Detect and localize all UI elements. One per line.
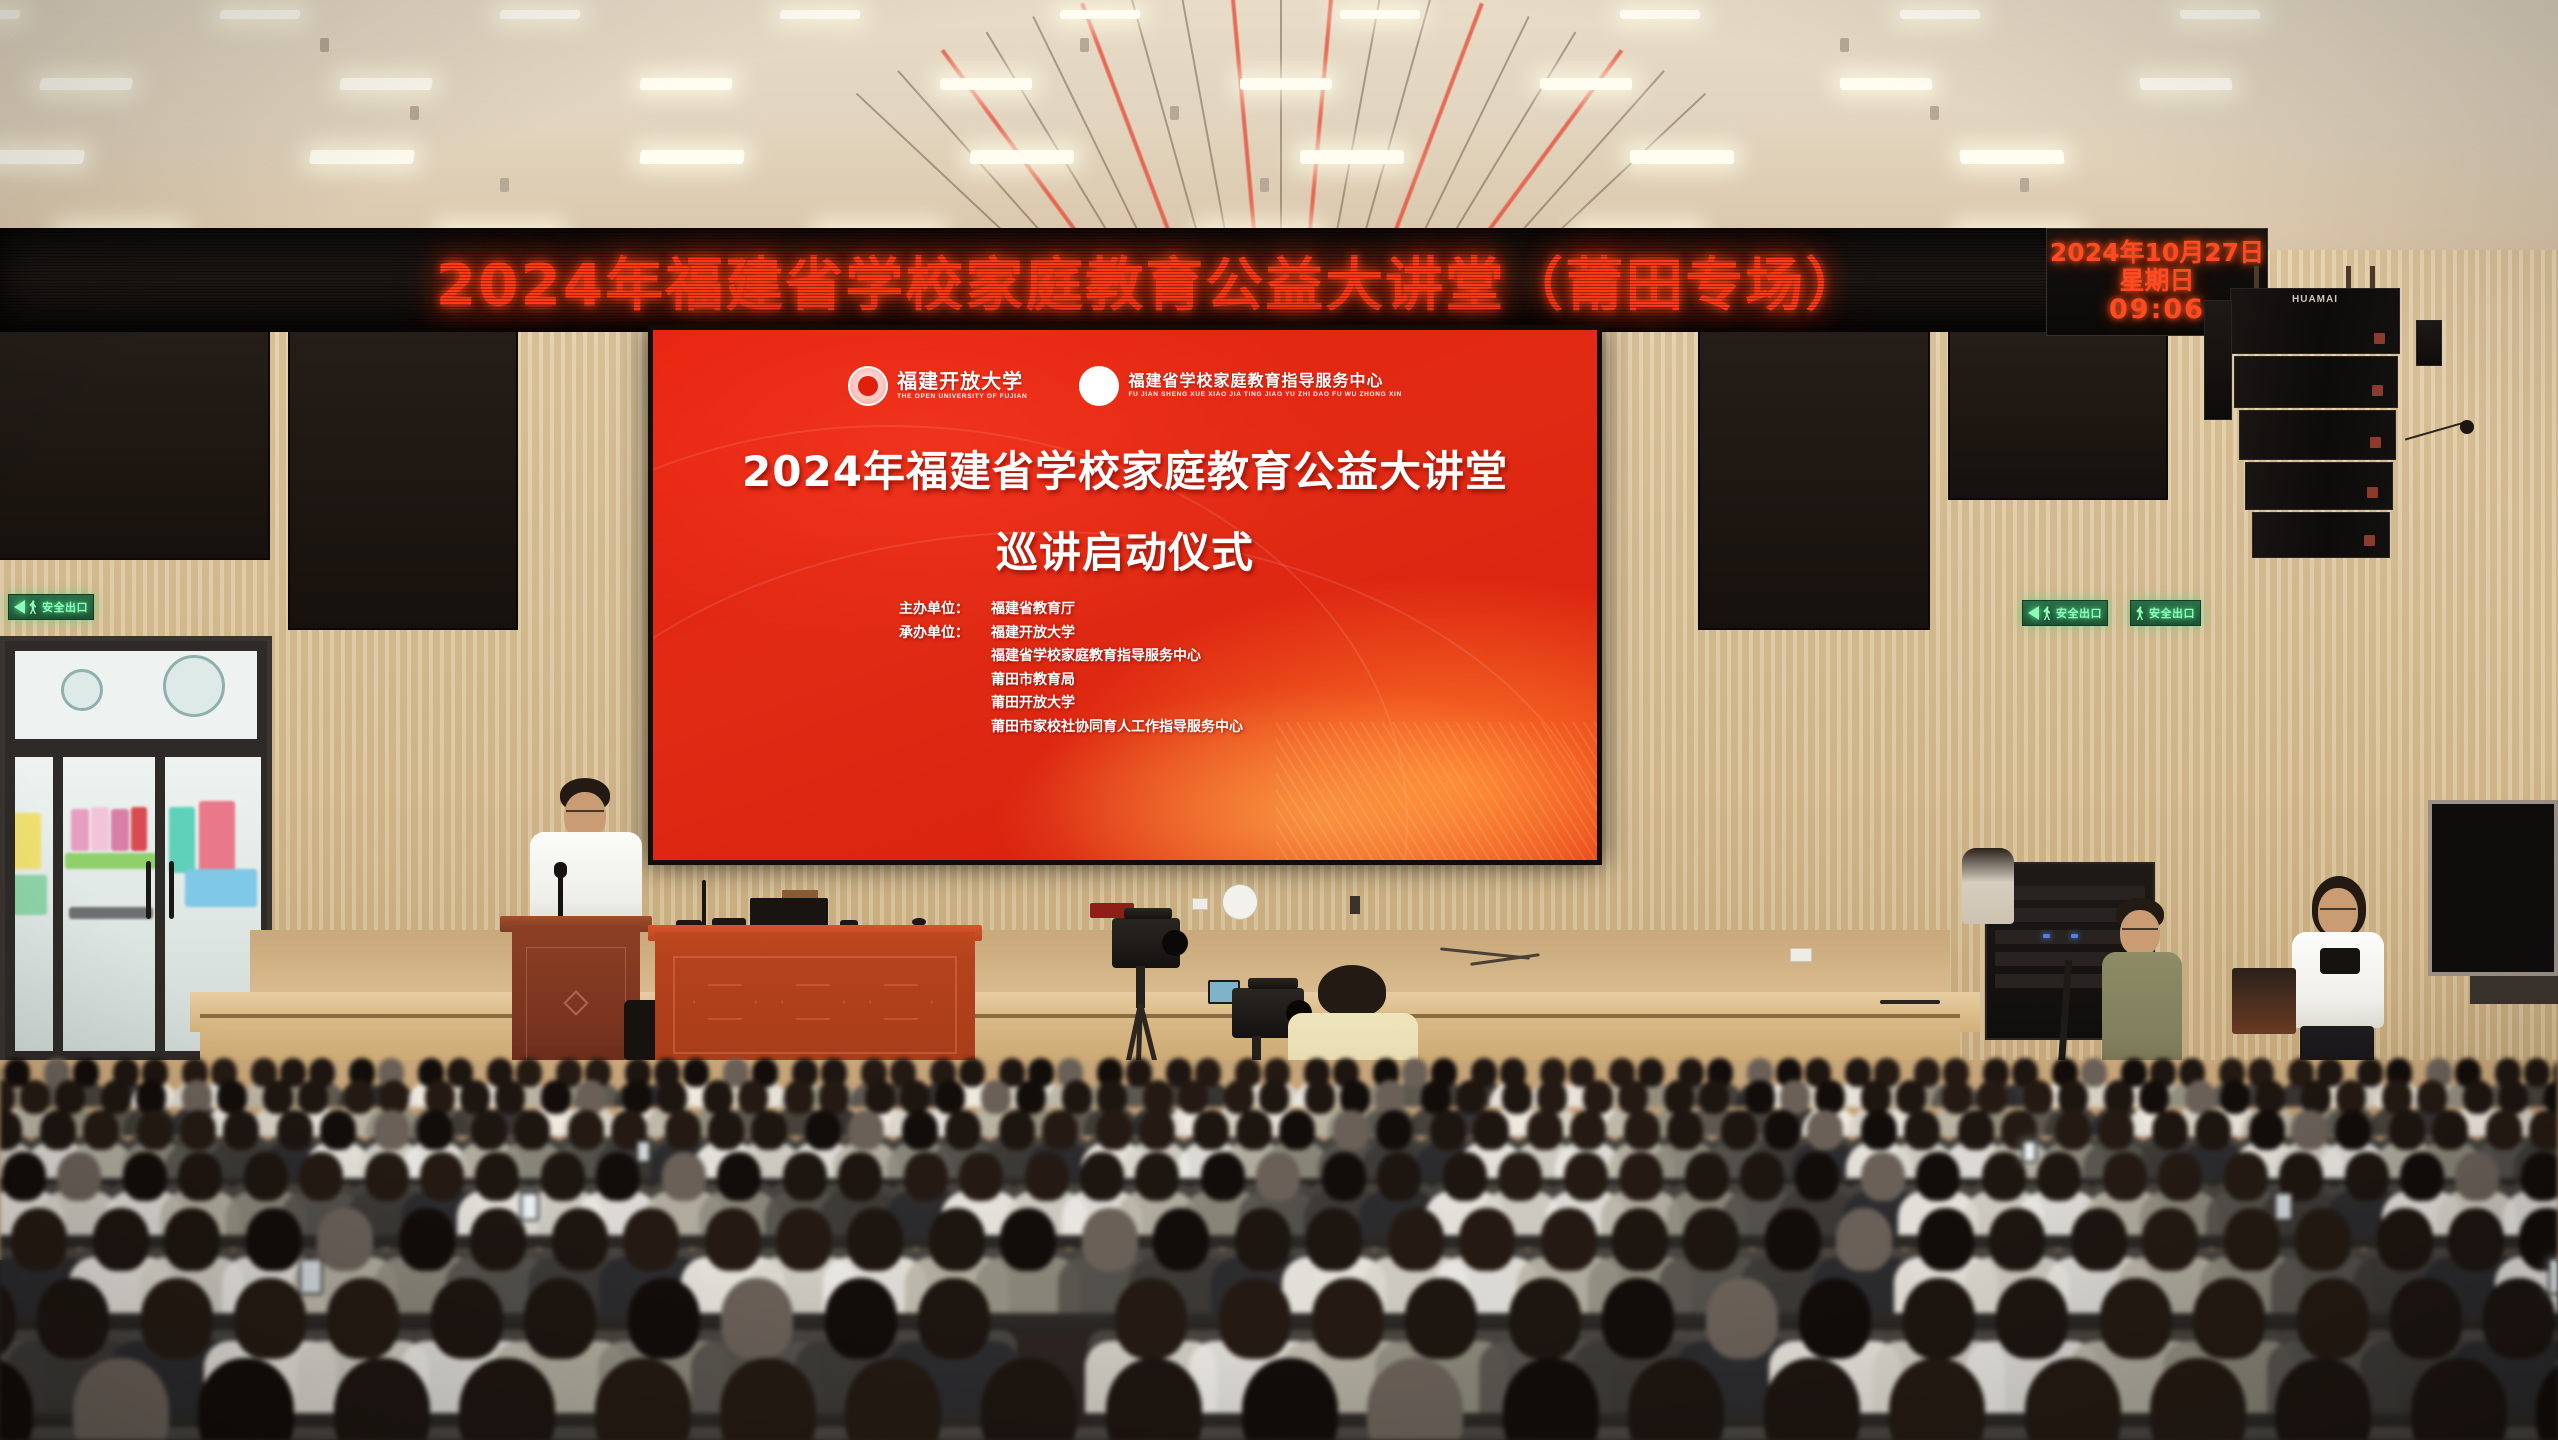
presentation-slide: 福建开放大学 THE OPEN UNIVERSITY OF FUJIAN 福建省…: [653, 330, 1597, 860]
audience-member-head: [317, 1208, 373, 1271]
ceiling-light-panel: [1240, 78, 1332, 90]
audience-member-head: [1807, 1110, 1843, 1150]
audience-member-head: [819, 1080, 849, 1114]
audience-member-head: [1685, 1152, 1729, 1201]
audience-member-head: [1795, 1152, 1839, 1201]
door-view-cloth-3: [185, 869, 257, 907]
audience-member-head: [1502, 1080, 1532, 1114]
ceiling-light-panel: [639, 78, 732, 90]
ceiling-light-panel: [780, 10, 861, 19]
ceiling-sprinkler: [320, 38, 329, 52]
door-view-stripe-3: [111, 809, 129, 851]
ceiling-sprinkler: [1080, 38, 1089, 52]
audience-member-head: [2103, 1152, 2147, 1201]
organizer-value-3-row: 莆田开放大学: [899, 692, 1243, 716]
slide-organizer-list: 主办单位： 福建省教育厅 承办单位： 福建开放大学 福建省学校家庭教育指导服务中…: [899, 598, 1243, 739]
audience-member-head: [2023, 1080, 2053, 1114]
audience-member-head: [1667, 1110, 1703, 1150]
audience-member-head: [1896, 1080, 1926, 1114]
center-seal-icon: [1079, 366, 1119, 406]
audience-member-head: [2529, 1110, 2558, 1150]
exit-sign-right-near: 安全出口: [2022, 600, 2108, 626]
audience-member-head: [1405, 1278, 1477, 1359]
photographer-glasses-icon: [2320, 908, 2356, 910]
ceiling-light-panel: [2179, 10, 2260, 19]
audience-member-head: [1097, 1080, 1127, 1114]
audience-member-head: [776, 1208, 832, 1271]
audience-member-head: [1430, 1110, 1466, 1150]
organizer-row-host: 主办单位： 福建省教育厅: [899, 598, 1243, 622]
audience-member-head: [665, 1110, 701, 1150]
audience-member-head: [2, 1152, 46, 1201]
audience-member-head: [552, 1208, 608, 1271]
ceiling-light-panel: [2139, 78, 2233, 90]
audience-member-head: [1982, 1152, 2026, 1201]
led-banner-text: 2024年福建省学校家庭教育公益大讲堂（莆田专场）: [436, 238, 1865, 322]
audience-member-head: [277, 1110, 313, 1150]
audience-member-head: [2220, 1080, 2250, 1114]
audience-member-head: [2292, 1110, 2328, 1150]
audience-member-head: [1618, 1080, 1648, 1114]
photographer-blouse: [2292, 932, 2384, 1028]
wall-clock-icon: [1222, 884, 1258, 920]
door-view-color-a: [11, 813, 41, 869]
ceiling-light-panel: [1300, 150, 1404, 164]
door-view-stripe-2: [91, 807, 109, 851]
audience-phone: [2022, 1140, 2037, 1163]
audience-member-head: [541, 1080, 571, 1114]
audience-member-head: [1115, 1278, 1187, 1359]
organizer-value-1-row: 福建省学校家庭教育指导服务中心: [899, 645, 1243, 669]
technician-glasses-icon: [2122, 928, 2158, 930]
audience-member-head: [1340, 1080, 1370, 1114]
audience-member-head: [904, 1152, 948, 1201]
audience-member-head: [1861, 1080, 1891, 1114]
door-view-chairs: [69, 907, 153, 919]
audience-member-head: [1527, 1110, 1563, 1150]
camera-1-lens: [1162, 930, 1188, 956]
wall-display-cabinet: [2470, 976, 2558, 1004]
door-transom-window: [11, 647, 261, 743]
audience-member-head: [945, 1110, 981, 1150]
audience-member-head: [178, 1152, 222, 1201]
slide-logo-row: 福建开放大学 THE OPEN UNIVERSITY OF FUJIAN 福建省…: [653, 366, 1597, 406]
audience-member-head: [1903, 1278, 1975, 1359]
audience-member-head: [1541, 1208, 1597, 1271]
ceiling-light-panel: [1630, 150, 1735, 164]
audience-member-head: [959, 1152, 1003, 1201]
audience-member-head: [2377, 1208, 2433, 1271]
wall-outlet-2: [1350, 896, 1360, 914]
ceiling-light-panel: [499, 10, 580, 19]
audience-member-head: [223, 1110, 259, 1150]
audience-member-head: [495, 1080, 525, 1114]
audience-member-head: [2255, 1080, 2285, 1114]
audience-member-head: [137, 1110, 173, 1150]
ceiling-light-panel: [1900, 10, 1981, 19]
audience-member-head: [2193, 1278, 2265, 1359]
ceiling-sprinkler: [2020, 178, 2029, 192]
audience-member-head: [2345, 1152, 2389, 1201]
audience-member-head: [2081, 1058, 2107, 1087]
audience-member-head: [902, 1110, 938, 1150]
logo-en-text-2: FU JIAN SHENG XUE XIAO JIA TING JIAO YU …: [1128, 392, 1401, 399]
audience-member-head: [2301, 1080, 2331, 1114]
audience-member-head: [516, 1058, 542, 1087]
audience-member-head: [263, 1080, 293, 1114]
ceiling-light-panel: [1620, 10, 1700, 19]
audience-member-head: [1942, 1080, 1972, 1114]
audience-member-head: [1153, 1208, 1209, 1271]
audience-member-head: [838, 1152, 882, 1201]
audience-member-head: [1745, 1080, 1775, 1114]
acoustic-panel-right: [1698, 330, 1930, 630]
audience-member-head: [2498, 1080, 2528, 1114]
organizer-label: 承办单位：: [899, 622, 991, 646]
audience-member-head: [1861, 1152, 1905, 1201]
audience-member-head: [1135, 1152, 1179, 1201]
audience-member-head: [1996, 1278, 2068, 1359]
door-leaf-left[interactable]: [11, 753, 57, 1055]
audience-member-head: [683, 1058, 709, 1087]
audience-member-head: [1224, 1080, 1254, 1114]
audience-member-head: [40, 1110, 76, 1150]
audience-member-head: [420, 1152, 464, 1201]
audience-member-head: [1780, 1080, 1810, 1114]
door-leaf-center[interactable]: [59, 753, 159, 1055]
podium-speaker: [526, 778, 646, 938]
handheld-camera: [2320, 948, 2360, 974]
speaker-led-5: [2364, 535, 2375, 546]
audience-member-head: [1977, 1080, 2007, 1114]
audience-member-head: [1619, 1152, 1663, 1201]
technician-head: [2120, 910, 2160, 956]
host-label: 主办单位：: [899, 598, 991, 622]
audience-member-head: [2071, 1208, 2127, 1271]
ceiling-light-panel: [940, 78, 1033, 90]
audience-member-head: [1219, 1278, 1291, 1359]
ceiling-light-panel: [1840, 78, 1933, 90]
audience-member-head: [1602, 1278, 1674, 1359]
audience-member-head: [721, 1278, 793, 1359]
audience-member-head: [1333, 1110, 1369, 1150]
audience-member-head: [541, 1152, 585, 1201]
audience-member-head: [2152, 1110, 2188, 1150]
slide-decoration-hatch: [1276, 722, 1597, 860]
audience-member-head: [1861, 1110, 1897, 1150]
ceiling-sprinkler: [1930, 106, 1939, 120]
door-handle-right[interactable]: [169, 861, 174, 919]
audience-member-head: [1235, 1208, 1291, 1271]
audience-member-head: [2382, 1080, 2412, 1114]
audience-member-head: [717, 1152, 761, 1201]
ceiling-sprinkler: [410, 106, 419, 120]
audience-member-head: [1916, 1152, 1960, 1201]
organizer-value-4-row: 莆田市家校社协同育人工作指导服务中心: [899, 716, 1243, 740]
audience-member-head: [471, 1110, 507, 1150]
audience-member-head: [379, 1080, 409, 1114]
audience-member-head: [628, 1278, 700, 1359]
audience-member-head: [1836, 1208, 1892, 1271]
slide-title-line-2: 巡讲启动仪式: [653, 519, 1597, 580]
audience-member-head: [1498, 1152, 1542, 1201]
audience-member-head: [1456, 1080, 1486, 1114]
exit-sign-right-far: 安全出口: [2130, 600, 2201, 626]
camera-1-handle: [1124, 908, 1172, 919]
audience-member-head: [299, 1152, 343, 1201]
audience-phone: [2274, 1192, 2293, 1221]
speaker-led-2: [2372, 385, 2383, 396]
audience-member-head: [981, 1358, 1077, 1440]
audience-member-head: [344, 1080, 374, 1114]
audience-phone: [299, 1258, 323, 1295]
ceiling-sprinkler: [1260, 178, 1269, 192]
audience-member-head: [2098, 1110, 2134, 1150]
audience-member-head: [327, 1278, 399, 1359]
audience-member-head: [2224, 1208, 2280, 1271]
wall-display-panel: [2428, 800, 2558, 976]
audience-member-head: [55, 1080, 85, 1114]
speaker-led-1: [2374, 333, 2385, 344]
audience-member-head: [1236, 1110, 1272, 1150]
audience-member-head: [182, 1080, 212, 1114]
audience-member-head: [1683, 1208, 1739, 1271]
audience-phone: [636, 1140, 651, 1163]
led-clock-weekday: 星期日: [2119, 267, 2194, 294]
ceiling-light-panel: [639, 150, 744, 164]
audience-member-head: [123, 1152, 167, 1201]
audience-member-head: [657, 1080, 687, 1114]
speaker-led-3: [2370, 437, 2381, 448]
ceiling-light-panel: [0, 150, 85, 164]
slide-title: 2024年福建省学校家庭教育公益大讲堂 巡讲启动仪式: [653, 438, 1597, 580]
audience-member-head: [1765, 1208, 1821, 1271]
wall-outlet-3: [1790, 948, 1812, 962]
audience-member-head: [865, 1080, 895, 1114]
ceiling-sprinkler: [500, 178, 509, 192]
transom-circle-1: [61, 669, 103, 711]
audience-member-head: [929, 1208, 985, 1271]
audience-member-head: [2104, 1080, 2134, 1114]
audience-member-head: [431, 1278, 503, 1359]
audience-member-head: [568, 1110, 604, 1150]
audience-member-head: [1740, 1152, 1784, 1201]
audience-member-head: [1664, 1080, 1694, 1114]
audience-member-head: [83, 1110, 119, 1150]
audience-member-head: [1799, 1278, 1871, 1359]
audience-member-head: [825, 1278, 897, 1359]
audience-member-head: [1473, 1110, 1509, 1150]
audience-member-head: [1958, 1110, 1994, 1150]
speaker-glasses-icon: [566, 810, 604, 812]
audience-member-head: [1375, 1080, 1405, 1114]
audience-member-head: [2390, 1278, 2462, 1359]
led-clock-date: 2024年10月27日: [2050, 239, 2264, 266]
ceiling-light-panel: [219, 10, 300, 19]
audience-member-head: [1000, 1208, 1056, 1271]
audience-member-head: [918, 1278, 990, 1359]
audience-member-head: [374, 1110, 410, 1150]
audience-member-head: [417, 1110, 453, 1150]
led-banner: 2024年福建省学校家庭教育公益大讲堂（莆田专场）: [0, 228, 2265, 332]
audience-member-head: [1259, 1080, 1289, 1114]
audience-member-head: [2486, 1110, 2522, 1150]
university-seal-icon: [848, 366, 888, 406]
ceiling-light-panel: [0, 10, 21, 19]
speaker-torso: [530, 832, 642, 928]
speaker-module-4: [2245, 462, 2393, 510]
audience-member-head: [1016, 1080, 1046, 1114]
wall-speaker-right: [2416, 320, 2442, 366]
audience-phone: [520, 1192, 539, 1221]
audience-member-head: [623, 1208, 679, 1271]
audience-member-head: [1256, 1152, 1300, 1201]
audience-member-head: [1459, 1208, 1515, 1271]
audience-member-head: [2037, 1152, 2081, 1201]
door-view-stripe-4: [131, 807, 147, 851]
audience-member-head: [1139, 1110, 1175, 1150]
audience-member-head: [1918, 1208, 1974, 1271]
audience-member-head: [1193, 1110, 1229, 1150]
acoustic-panel-right2: [1948, 330, 2168, 500]
audience-member-head: [2432, 1110, 2468, 1150]
audience-member-head: [1564, 1152, 1608, 1201]
audience-member-head: [738, 1080, 768, 1114]
projection-screen: 福建开放大学 THE OPEN UNIVERSITY OF FUJIAN 福建省…: [648, 325, 1602, 865]
organizer-value-2-row: 莆田市教育局: [899, 669, 1243, 693]
ceiling-light-panel: [339, 78, 433, 90]
speaker-module-5: [2252, 512, 2390, 558]
audience-member-head: [2335, 1110, 2371, 1150]
running-man-icon-3: [2136, 606, 2145, 620]
audience-member-head: [900, 1080, 930, 1114]
audience-member-head: [1082, 1208, 1138, 1271]
exit-arrow-icon-2: [2028, 606, 2039, 620]
audience-member-head: [1402, 1058, 1428, 1087]
audience-member-head: [848, 1110, 884, 1150]
audience-member-head: [2058, 1080, 2088, 1114]
exit-sign-label-right-near: 安全出口: [2056, 605, 2102, 621]
door-handle-center[interactable]: [146, 861, 151, 919]
audience-member-head: [298, 1080, 328, 1114]
exit-sign-label-left: 安全出口: [42, 599, 88, 615]
exit-sign-label-right-far: 安全出口: [2149, 605, 2195, 621]
audience-member-head: [1322, 1152, 1366, 1201]
audience-member-head: [234, 1278, 306, 1359]
audience-member-head: [460, 1080, 490, 1114]
audience-member-head: [1509, 1278, 1581, 1359]
audience-member-head: [1143, 1080, 1173, 1114]
host-value: 福建省教育厅: [991, 598, 1075, 622]
exit-arrow-icon: [14, 600, 25, 614]
audience-member-head: [1421, 1080, 1451, 1114]
audience-member-head: [399, 1208, 455, 1271]
audience-member-head: [1062, 1080, 1092, 1114]
audience-member-head: [141, 1278, 213, 1359]
audience-member-head: [2224, 1152, 2268, 1201]
audience-member-head: [2297, 1278, 2369, 1359]
speaker-module-2: [2234, 356, 2398, 408]
audience-member-head: [959, 1058, 985, 1087]
audience-member-head: [2249, 1110, 2285, 1150]
audience-member-head: [514, 1110, 550, 1150]
logo-family-education-center: 福建省学校家庭教育指导服务中心 FU JIAN SHENG XUE XIAO J…: [1079, 366, 1401, 406]
audience-member-head: [1178, 1080, 1208, 1114]
audience-member-head: [622, 1080, 652, 1114]
audience-member-head: [365, 1152, 409, 1201]
door-view-table: [65, 853, 157, 869]
line-array-speaker: HUAMAI: [2230, 288, 2402, 568]
audience-member-head: [136, 1080, 166, 1114]
audience-member-head: [783, 1152, 827, 1201]
logo-cn-text-2: 福建省学校家庭教育指导服务中心: [1128, 373, 1401, 389]
wall-speaker-left: [2204, 300, 2232, 420]
audience-member-head: [1096, 1110, 1132, 1150]
audience-member-head: [1306, 1208, 1362, 1271]
ceiling-light-panel: [1540, 78, 1632, 90]
audience-member-head: [2455, 1152, 2499, 1201]
speaker-led-4: [2367, 487, 2378, 498]
audience-member-head: [1583, 1080, 1613, 1114]
audience-member-head: [662, 1152, 706, 1201]
table-microphone: [702, 880, 706, 928]
audience-member-head: [847, 1208, 903, 1271]
audience-member-head: [475, 1152, 519, 1201]
transom-circle-2: [163, 655, 225, 717]
organizer-value-0: 福建开放大学: [991, 622, 1075, 646]
door-view-cloth-2: [199, 801, 235, 873]
audience-member-head: [2357, 1058, 2383, 1087]
auditorium-photo: 2024年福建省学校家庭教育公益大讲堂（莆田专场） 2024年10月27日 星期…: [0, 0, 2558, 1440]
audience-member-head: [1706, 1278, 1778, 1359]
acoustic-panel-left: [288, 330, 518, 630]
door-view-color-b: [11, 875, 47, 915]
led-clock-time: 09:06: [2109, 295, 2205, 324]
rack-led-blue-1: [2043, 934, 2050, 938]
audience-member-head: [2055, 1110, 2091, 1150]
audience-member-head: [2142, 1208, 2198, 1271]
audience-member-head: [935, 1080, 965, 1114]
stage-mic-stand: [1880, 1000, 1940, 1004]
audience-member-head: [2336, 1080, 2366, 1114]
audience-member-head: [1989, 1208, 2045, 1271]
audience-member-head: [2139, 1080, 2169, 1114]
audience-member-head: [2195, 1110, 2231, 1150]
audience-member-head: [2389, 1110, 2425, 1150]
audience-member-head: [2448, 1208, 2504, 1271]
audience-member-head: [2400, 1152, 2444, 1201]
audience-member-head: [1721, 1110, 1757, 1150]
audience-member-head: [180, 1110, 216, 1150]
audience-member-head: [2524, 1058, 2550, 1087]
audience-member-head: [1624, 1110, 1660, 1150]
ceiling-sprinkler: [1840, 38, 1849, 52]
audience-member-head: [1815, 1080, 1845, 1114]
logo-open-university-fujian: 福建开放大学 THE OPEN UNIVERSITY OF FUJIAN: [848, 366, 1027, 406]
audience-member-head: [708, 1110, 744, 1150]
door-view-stripe-1: [71, 809, 89, 851]
audience-member-head: [524, 1278, 596, 1359]
wall-mic-head: [2460, 420, 2474, 434]
audience-member-head: [1699, 1080, 1729, 1114]
audience-member-head: [1201, 1152, 1245, 1201]
audience-member-head: [1279, 1110, 1315, 1150]
audience-member-head: [784, 1080, 814, 1114]
audience-member-head: [470, 1208, 526, 1271]
audience-member-head: [37, 1278, 109, 1359]
audience-member-head: [703, 1080, 733, 1114]
audience-member-head: [2417, 1080, 2447, 1114]
